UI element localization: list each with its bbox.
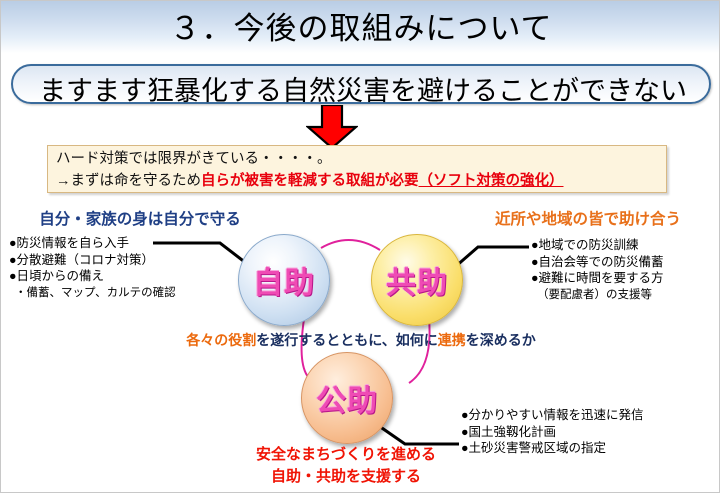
circle-jijo-label: 自助 — [253, 258, 315, 302]
arc-kyojo-kojo — [409, 319, 430, 383]
arc-jijo-kyojo — [321, 240, 380, 250]
circle-kojo: 公助 — [301, 352, 393, 444]
list-item: ●日頃からの備え — [9, 268, 229, 285]
circle-kojo-label: 公助 — [316, 376, 378, 420]
kojo-caption-line-1: 安全なまちづくりを進める — [176, 444, 516, 466]
kojo-caption-line-2: 自助・共助を支援する — [176, 466, 516, 488]
list-item-sub: ・備蓄、マップ、カルテの確認 — [9, 285, 229, 301]
center-caption-part-3: 連携 — [438, 332, 466, 348]
list-item: ●防災情報を自ら入手 — [9, 235, 229, 252]
jijo-bullet-list: ●防災情報を自ら入手 ●分散避難（コロナ対策） ●日頃からの備え ・備蓄、マップ… — [9, 235, 229, 301]
list-item: ●国土強靱化計画 — [461, 424, 711, 441]
circle-kyojo-label: 共助 — [386, 258, 448, 302]
center-caption: 各々の役割を遂行するとともに、如何に連携を深めるか — [121, 330, 601, 350]
list-item: ●分かりやすい情報を迅速に発信 — [461, 407, 711, 424]
center-caption-part-1: 各々の役割 — [186, 332, 256, 348]
circle-kyojo: 共助 — [371, 234, 463, 326]
center-caption-part-2: を遂行するとともに、如何に — [256, 332, 438, 348]
leader-kojo — [379, 426, 459, 444]
list-item: ●自治会等での防災備蓄 — [531, 254, 720, 271]
leader-kyojo — [455, 247, 529, 267]
kojo-caption: 安全なまちづくりを進める 自助・共助を支援する — [176, 444, 516, 488]
kyojo-bullet-list: ●地域での防災訓練 ●自治会等での防災備蓄 ●避難に時間を要する方 （要配慮者）… — [531, 237, 720, 303]
list-item: ●避難に時間を要する方 — [531, 270, 720, 287]
list-item: ●分散避難（コロナ対策） — [9, 252, 229, 269]
circle-jijo: 自助 — [238, 234, 330, 326]
center-caption-part-4: を深めるか — [466, 332, 536, 348]
jijo-heading: 自分・家族の身は自分で守る — [15, 207, 265, 229]
kyojo-heading: 近所や地域の皆で助け合う — [463, 207, 713, 229]
list-item-sub: （要配慮者）の支援等 — [531, 287, 720, 303]
slide-canvas: ３．今後の取組みについて ますます狂暴化する自然災害を避けることができない ハー… — [0, 0, 720, 493]
list-item: ●地域での防災訓練 — [531, 237, 720, 254]
